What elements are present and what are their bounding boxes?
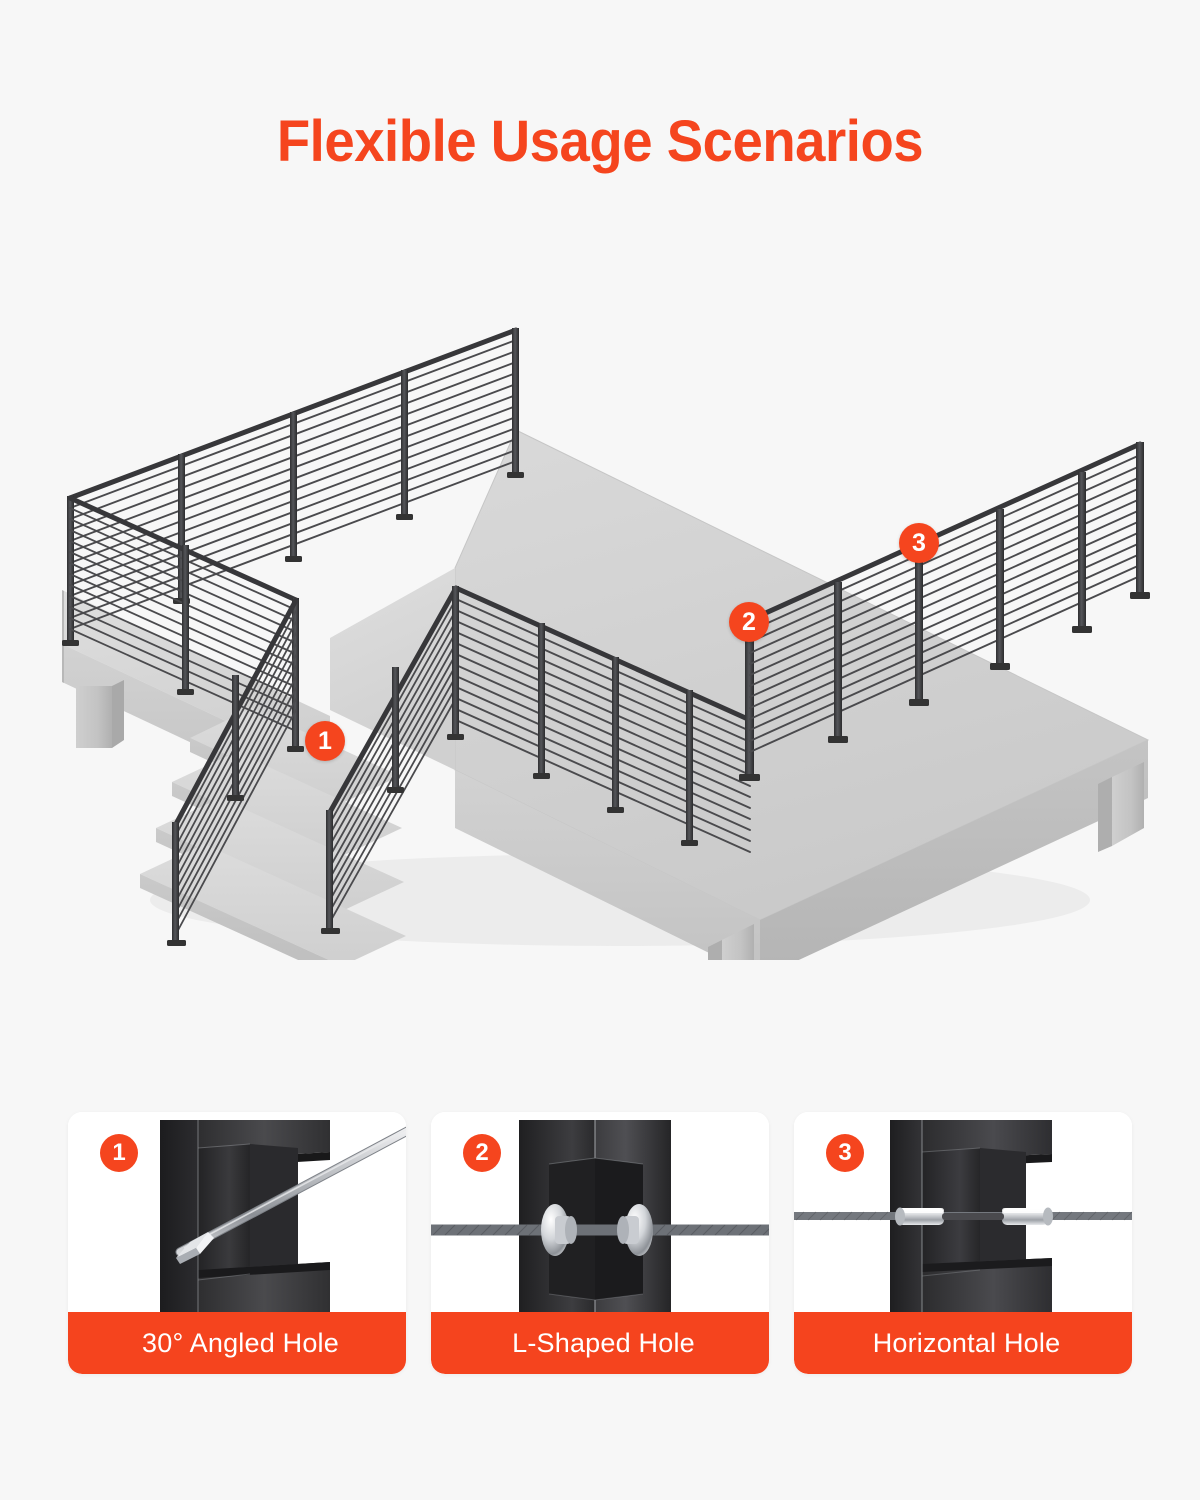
card-label-angled-hole: 30° Angled Hole (68, 1312, 406, 1374)
hero-callout-2[interactable]: 2 (729, 602, 769, 642)
card-badge-2: 2 (463, 1134, 501, 1172)
hero-callout-3[interactable]: 3 (899, 523, 939, 563)
deck-render-illustration (0, 300, 1200, 960)
card-badge-1: 1 (100, 1134, 138, 1172)
feature-card-horizontal-hole[interactable]: 3 Horizontal Hole (794, 1112, 1132, 1374)
hero-callout-1[interactable]: 1 (305, 721, 345, 761)
card-label-l-shaped-hole: L-Shaped Hole (431, 1312, 769, 1374)
feature-cards: 1 30° Angled Hole (68, 1112, 1132, 1374)
card-label-horizontal-hole: Horizontal Hole (794, 1312, 1132, 1374)
feature-card-angled-hole[interactable]: 1 30° Angled Hole (68, 1112, 406, 1374)
card-badge-3: 3 (826, 1134, 864, 1172)
infographic-page: Flexible Usage Scenarios (0, 0, 1200, 1500)
page-title: Flexible Usage Scenarios (36, 108, 1164, 175)
feature-card-l-shaped-hole[interactable]: 2 L-Shaped Hole (431, 1112, 769, 1374)
